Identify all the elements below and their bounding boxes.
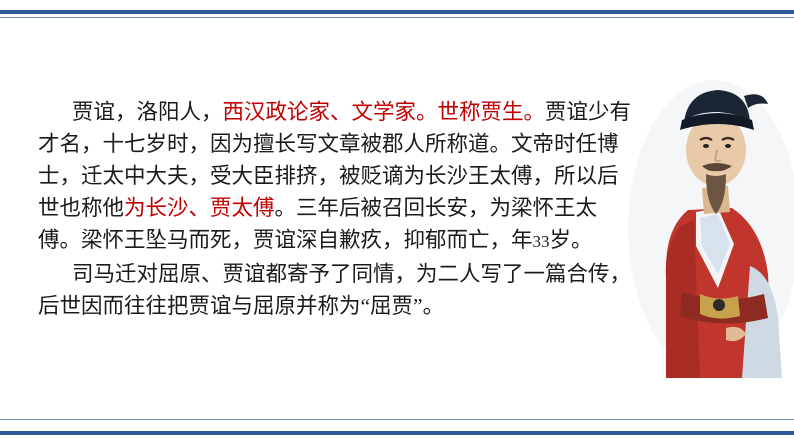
text-run-5: 司马迁对屈原、贾谊都寄予了同情，为二人写了一篇合传，后世因而往往把贾谊与屈原并称…: [38, 262, 631, 318]
top-accent-bar: [0, 10, 794, 14]
text-run-highlight-2: 为: [124, 196, 146, 220]
text-run-1: 贾谊，洛阳人，: [72, 100, 223, 124]
paragraph-1: 贾谊，洛阳人，西汉政论家、文学家。世称贾生。贾谊少有才名，十七岁时，因为擅长写文…: [38, 96, 638, 258]
slide-canvas: 贾谊，洛阳人，西汉政论家、文学家。世称贾生。贾谊少有才名，十七岁时，因为擅长写文…: [0, 0, 794, 447]
top-accent-line: [0, 17, 794, 18]
bottom-accent-line: [0, 419, 794, 420]
portrait-illustration: [622, 78, 794, 378]
portrait-of-jia-yi: [622, 78, 794, 378]
body-text-block: 贾谊，洛阳人，西汉政论家、文学家。世称贾生。贾谊少有才名，十七岁时，因为擅长写文…: [38, 96, 638, 322]
text-run-4: 岁。: [550, 228, 593, 252]
text-run-highlight-1: 西汉政论家、文学家。世称贾生。: [223, 100, 546, 124]
bottom-accent-bar: [0, 431, 794, 435]
text-run-highlight-3: 长沙、贾太傅: [146, 196, 275, 220]
paragraph-2: 司马迁对屈原、贾谊都寄予了同情，为二人写了一篇合传，后世因而往往把贾谊与屈原并称…: [38, 258, 638, 322]
age-number: 33: [533, 232, 550, 251]
